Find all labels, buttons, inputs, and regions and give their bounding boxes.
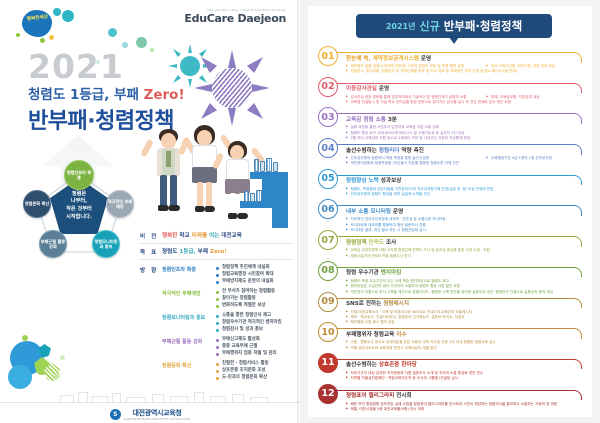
item-title-mid: 벤치마킹: [381, 270, 402, 276]
direction-group: 적극적인 부패예방 전 부서가 참여하는 청렴활동 찾아가는 청렴활동 변화하도…: [162, 289, 292, 309]
center-line-3: 작은 것부터: [66, 206, 92, 214]
direction-item: 찾아가는 청렴활동: [216, 296, 292, 303]
banner-main: 반부패·청렴정책: [444, 18, 522, 34]
policy-items-list: 01 한눈에 쏙, 계약정보공개시스템 운영 계약정보 일괄 공개(수의계약 관…: [318, 46, 582, 414]
brand-dot-yellow: [49, 35, 54, 40]
direction-item: 부패행위자 엄중 처벌 및 관리: [216, 351, 292, 358]
direction-items: 청렴정책 추진체계 내실화 청렴교육행정 시민참여 확대 부패방지제도 운영의 …: [216, 265, 292, 285]
item-title-accent: 내부 소통 모니터링: [346, 209, 391, 215]
item-title: 한눈에 쏙, 계약정보공개시스템 운영: [346, 54, 431, 62]
direction-category: 적극적인 부패예방: [162, 289, 216, 309]
vision-part-4: 여는: [209, 233, 219, 239]
policy-item[interactable]: 08 청렴 우수기관 벤치마킹 청렴도 측정 우수기관의 우수 사례 학습 벤치…: [318, 261, 582, 290]
item-bullets: 직속기관자 대상 갑작한 조직문화와 다름 설문조사 소개 및 조직의 소통 활…: [346, 371, 580, 382]
policy-item[interactable]: 10 부패행위자 청렴교육 이수 고품 · 향응수수 등으로 징계처분을 받은 …: [318, 322, 582, 351]
item-number: 01: [318, 46, 338, 66]
vision-value: 행복한 학교 미래를 여는 대전교육: [162, 231, 292, 240]
item-title: 내부 소통 모니터링 운영: [346, 207, 403, 215]
policy-item[interactable]: 06 내부 소통 모니터링 운영 지속적인 업무추진과정에 내부의 · 민주성 …: [318, 199, 582, 228]
item-number: 12: [318, 384, 338, 404]
item-title: 청렴정책 만족도 조사: [346, 238, 396, 246]
decor-bubble: [150, 48, 154, 52]
item-number: 05: [318, 169, 338, 189]
node-label: 부패근절 활동강화: [40, 239, 66, 250]
center-line-4: 시작합니다.: [66, 214, 92, 222]
tagline-zero: Zero!: [144, 87, 185, 103]
footer-logo: S 대전광역시교육청 DAEJEON METROPOLITAN OFFICE O…: [0, 401, 300, 421]
direction-groups: 청렴인프라 확충 청렴정책 추진체계 내실화 청렴교육행정 시민참여 확대 부패…: [162, 265, 292, 385]
sun-burst-purple: [196, 52, 268, 124]
item-title-tail: 전시회: [396, 393, 411, 399]
goal-part-3: 부패: [198, 249, 208, 255]
item-number: 07: [318, 230, 338, 250]
new-policy-banner: 2021년 신규 반부패·청렴정책: [356, 14, 552, 38]
item-title-tail: 3분: [388, 117, 397, 123]
direction-item: 청렴정책 추진체계 내실화: [216, 265, 292, 272]
poster-tagline: 청렴도 1등급, 부패 Zero!: [28, 83, 185, 103]
item-number: 10: [318, 322, 338, 342]
pentagon-node-culture[interactable]: 청렴문화 확산: [23, 190, 51, 218]
goal-part-4: Zero!: [210, 249, 227, 255]
node-label: 청렴문화 확산: [25, 201, 50, 206]
vision-goal-direction-table: 비 전 행복한 학교 미래를 여는 대전교육 목 표 청렴도 1등급, 부패 Z…: [140, 228, 292, 388]
policy-item[interactable]: 07 청렴정책 만족도 조사 교육감 성과지향에 대한 교직원 청렴감에 만족도…: [318, 230, 582, 259]
right-page-sheet: 2021년 신규 반부패·청렴정책 01 한눈에 쏙, 계약정보공개시스템 운영: [308, 6, 592, 417]
policy-item[interactable]: 11 솔선수범하는 상호존중 한마당 직속기관자 대상 갑작한 조직문화와 다름…: [318, 353, 582, 382]
item-title-tail: 운영: [393, 209, 403, 215]
poster-year: 2021: [28, 50, 124, 83]
item-bullet: 가해 상담사이트와 교육과정 운영시 교육대상자 개별 통지: [346, 346, 580, 351]
left-page: 행복한세상 Dae jeon Edu cation Integrity Educ…: [0, 0, 300, 423]
footer-org-sub: DAEJEON METROPOLITAN OFFICE OF EDUCATION: [124, 418, 190, 421]
policy-item[interactable]: 02 이동감사관실 운영 감사관실 현장 방문을 통해 업무처리에서 기술적이 …: [318, 77, 582, 106]
item-bullets: 계약정보 일괄 공개(수의계약 관련)로 시민의 알권리 보장 및 투명 행정 …: [346, 64, 580, 75]
policy-item[interactable]: 09 SNS로 전하는 청렴메시지 간부(대전교육소식 · 시책 및 보훈되시와…: [318, 292, 582, 321]
tagline-part-2: 부패: [114, 87, 139, 103]
item-title: 청렴향상 노력 성과보상: [346, 176, 401, 184]
center-line-2: 나부터,: [66, 198, 92, 206]
item-title-mid: 만족도: [369, 240, 384, 246]
educare-name: EduCare Daejeon: [184, 12, 286, 25]
direction-category: 청렴문화 확산: [162, 361, 216, 381]
item-number: 06: [318, 199, 338, 219]
vision-part-2: 학교: [179, 233, 189, 239]
policy-item[interactable]: 05 청렴향상 노력 성과보상 청렴도, 측정결과 담당자들을 기관장(부서의 …: [318, 169, 582, 198]
policy-item[interactable]: 03 교육감 청렴 소통 3분 실제 과정을 통한 사업부서 담당자와 교육감 …: [318, 107, 582, 136]
item-title-mid: 청렴리더: [379, 148, 400, 154]
books-bottom: [244, 190, 270, 202]
item-bullet: 지역별 자율실천캠페인 · 역량교육연수적 등 소식과 그룹별 (컨설팅 실시: [346, 376, 580, 381]
direction-item: 청렴우수기관 적극적인 벤치마킹: [216, 320, 292, 327]
item-number: 03: [318, 107, 338, 127]
direction-category: 부패근절 활동 강화: [162, 337, 216, 357]
goal-label: 목 표: [140, 247, 162, 256]
direction-item: 상호존중 조직문화 조성: [216, 368, 292, 375]
goal-value: 청렴도 1등급, 부패 Zero!: [162, 247, 292, 256]
goal-part-1: 청렴도: [162, 249, 177, 255]
item-title-mid: 상호존중 한마당: [379, 362, 417, 368]
direction-items: 소통을 통한 청렴인식 제고 청렴우수기관 적극적인 벤치마킹 청렴감사 및 성…: [216, 313, 292, 333]
item-title: 솔선수범하는 청렴리더 역량 측진: [346, 146, 424, 154]
item-title-tail: 운영: [421, 56, 431, 62]
item-title-accent: 이동감사관실: [346, 86, 377, 92]
item-title: 청렴표어 캘리그라피 전시회: [346, 391, 412, 399]
item-title: 솔선수범하는 상호존중 한마당: [346, 360, 417, 368]
item-title-accent: 솔선수범하는: [346, 148, 377, 154]
direction-category: 청렴인프라 확충: [162, 265, 216, 285]
vision-part-5: 대전교육: [221, 233, 242, 239]
banner-year: 2021년: [386, 21, 416, 32]
pentagon-diagram: 청렴은 나부터, 작은 것부터 시작합니다. 청렴인프라 확충 적극적인 부패예…: [18, 160, 138, 260]
direction-items: 친절한 · 청렴서비스 활동 상호존중 조직문화 조성 도·민과의 청렴문화 확…: [216, 361, 292, 381]
pentagon-node-monitoring[interactable]: 청렴모니터링과 홍보: [92, 230, 120, 258]
item-bullets: 배운 보인 청렴경험 공모전된 실제 수립을 청렴표어 캘리그라피를 전시하여 …: [346, 402, 580, 413]
direction-item: 청렴감사 및 성과 홍보: [216, 327, 292, 334]
item-title-tail: 운영: [379, 86, 389, 92]
right-page: 2021년 신규 반부패·청렴정책 01 한눈에 쏙, 계약정보공개시스템 운영: [300, 0, 600, 423]
item-bullets: 고품 · 향응수수 등으로 징계처분을 받은 사람의 대처 직무상 자문 1년 …: [346, 340, 580, 351]
vision-part-1: 행복한: [162, 233, 177, 239]
pentagon-node-infra[interactable]: 청렴인프라 확충: [64, 160, 94, 190]
item-title-accent: 청렴정책: [346, 240, 367, 246]
item-number: 09: [318, 292, 338, 312]
direction-category: 청렴모니터링과 홍보: [162, 313, 216, 333]
item-title: 이동감사관실 운영: [346, 84, 389, 92]
item-bullets: 간부공무원의 청렴리더 역량 측정을 통한 솔선수범형 교육행정기관 4급 1명…: [346, 156, 580, 167]
direction-item: 부패방지제도 운영의 내실화: [216, 279, 292, 286]
stair-step: [240, 201, 288, 208]
item-bullets: 감사관실 현장 방문을 통해 업무처리에서 기술적이 및 청렴관계가 설명과 소…: [346, 95, 580, 106]
direction-item: 부패신고제도 활성화: [216, 337, 292, 344]
page-fold-shadow: [297, 0, 300, 423]
vision-part-3: 미래를: [192, 233, 207, 239]
pentagon-node-activity[interactable]: 부패근절 활동강화: [39, 230, 67, 258]
direction-group: 청렴문화 확산 친절한 · 청렴서비스 활동 상호존중 조직문화 조성 도·민과…: [162, 361, 292, 381]
brand-mark-logo: 행복한세상: [14, 6, 64, 42]
stair-step: [250, 172, 288, 179]
direction-item: 도·민과의 청렴문화 확산: [216, 375, 292, 382]
direction-item: 청렴교육행정 시민참여 확대: [216, 272, 292, 279]
brand-dot-cyan: [53, 8, 61, 16]
direction-item: 소통을 통한 청렴인식 제고: [216, 313, 292, 320]
item-bullets: 교육감 성과지향에 대한 교직원 청렴감에 만족도 조사 및 효과성 중심을 통…: [346, 248, 580, 259]
stairs-books-illustration: [232, 150, 288, 230]
direction-items: 부패신고제도 활성화 중증 교육부패 근절 부패행위자 엄중 처벌 및 관리: [216, 337, 292, 357]
goal-row: 목 표 청렴도 1등급, 부패 Zero!: [140, 244, 292, 260]
item-title-tail: 이수: [396, 332, 406, 338]
tagline-part-1: 청렴도 1등급,: [28, 87, 109, 103]
item-bullet: 입찰공고, 발주계획, 집행공고 등 계약단계별 정보 및 비교 자료 등 체계…: [346, 69, 580, 74]
item-title: SNS로 전하는 청렴메시지: [346, 299, 409, 307]
item-title-accent: SNS로 전하는: [346, 301, 381, 307]
tree-illustration: [8, 311, 78, 401]
item-title-accent: 솔선수범하는: [346, 362, 377, 368]
item-title-tail: 조사: [386, 240, 396, 246]
item-title: 교육감 청렴 소통 3분: [346, 115, 397, 123]
direction-item: 변화하도록 적절한 보상: [216, 303, 292, 310]
direction-row: 방 향 청렴인프라 확충 청렴정책 추진체계 내실화 청렴교육행정 시민참여 확…: [140, 260, 292, 388]
footer-org-name: 대전광역시교육청: [124, 408, 190, 418]
item-title-mid: 계약정보공개시스템: [373, 56, 419, 62]
node-label: 적극적인 부패예방: [107, 199, 133, 210]
item-bullet: 제한(4분기에 연6회 적정 제품조사 방식: [346, 254, 580, 259]
item-bullet: 국민권익위원회 청렴측정을 (자신들기 지표를 활용한 청렴수준 자체 진단: [346, 161, 580, 166]
item-title-accent: 교육감 청렴 소통: [346, 117, 386, 123]
item-number: 08: [318, 261, 338, 281]
item-number: 11: [318, 353, 338, 373]
item-bullet: 간부공무원의 청렴도 향상을 위한 실질적 노력을 추진: [346, 192, 580, 197]
item-title-accent: 청렴표어 캘리그라피: [346, 393, 394, 399]
item-title-accent: 청렴 우수기관: [346, 270, 379, 276]
item-title-accent: 부패행위자 청렴교육: [346, 332, 394, 338]
decor-bubble: [136, 37, 147, 48]
policy-item[interactable]: 12 청렴표어 캘리그라피 전시회 배운 보인 청렴경험 공모전된 실제 수립을…: [318, 384, 582, 413]
node-label: 청렴모니터링과 홍보: [93, 239, 119, 250]
item-title: 청렴 우수기관 벤치마킹: [346, 268, 401, 276]
item-number: 04: [318, 138, 338, 158]
educare-logo: Dae jeon Edu cation Integrity Education …: [184, 8, 286, 25]
item-title-accent: 청렴향상 노력: [346, 178, 379, 184]
vision-label: 비 전: [140, 231, 162, 240]
item-title: 부패행위자 청렴교육 이수: [346, 330, 407, 338]
vision-row: 비 전 행복한 학교 미래를 여는 대전교육: [140, 228, 292, 244]
direction-group: 청렴모니터링과 홍보 소통을 통한 청렴인식 제고 청렴우수기관 적극적인 벤치…: [162, 313, 292, 333]
goal-part-2: 1등급,: [179, 249, 195, 255]
item-title-tail: 성과보상: [381, 178, 402, 184]
brand-dot-green: [16, 33, 20, 37]
item-number: 02: [318, 77, 338, 97]
books-top: [254, 158, 284, 172]
direction-item: 전 부서가 참여하는 청렴활동: [216, 289, 292, 296]
direction-item: 친절한 · 청렴서비스 활동: [216, 361, 292, 368]
item-bullets: 청렴도, 측정결과 담당자들을 기관장(부서의 직무성과평가에 반영(실효 중 …: [346, 187, 580, 198]
direction-label: 방 향: [140, 265, 162, 385]
direction-items: 전 부서가 참여하는 청렴활동 찾아가는 청렴활동 변화하도록 적절한 보상: [216, 289, 292, 309]
stair-step: [272, 208, 288, 228]
banner-new: 신규: [419, 18, 439, 34]
item-bullet: 매월, 대전시청을 5층 대전교육홀(4층) 전시 개최: [346, 407, 580, 412]
policy-item[interactable]: 01 한눈에 쏙, 계약정보공개시스템 운영 계약정보 일괄 공개(수의계약 관…: [318, 46, 582, 75]
item-title-accent: 한눈에 쏙,: [346, 56, 371, 62]
poster: 행복한세상 Dae jeon Edu cation Integrity Educ…: [0, 0, 600, 423]
direction-group: 청렴인프라 확충 청렴정책 추진체계 내실화 청렴교육행정 시민참여 확대 부패…: [162, 265, 292, 285]
decor-bubble: [108, 28, 117, 37]
daejeon-education-icon: S: [110, 409, 121, 420]
policy-item[interactable]: 04 솔선수범하는 청렴리더 역량 측진 간부공무원의 청렴리더 역량 측정을 …: [318, 138, 582, 167]
direction-item: 중증 교육부패 근절: [216, 344, 292, 351]
item-title-mid: 청렴메시지: [383, 301, 409, 307]
item-bullet: 교육청 컨설팅시 및 각급 학교 관리실별 현장 방문으로 찾아가는 감사를 실…: [346, 100, 580, 105]
item-title-tail: 역량 측진: [401, 148, 424, 154]
direction-group: 부패근절 활동 강화 부패신고제도 활성화 중증 교육부패 근절 부패행위자 엄…: [162, 337, 292, 357]
node-label: 청렴인프라 확충: [65, 170, 93, 181]
pentagon-node-prevention[interactable]: 적극적인 부패예방: [106, 190, 134, 218]
